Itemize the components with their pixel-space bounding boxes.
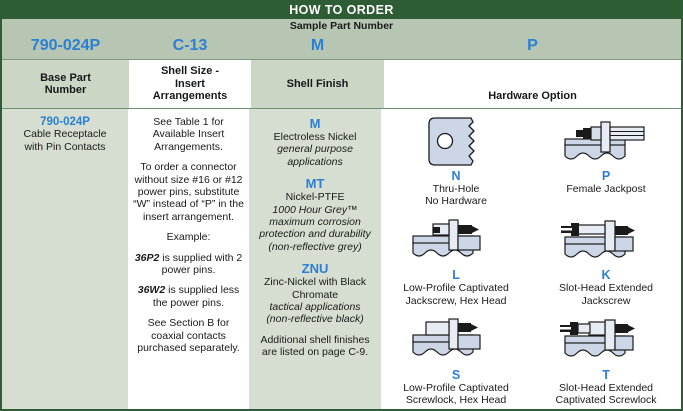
hardware-label-line: Thru-Hole [433,183,480,195]
finish-note: 1000 Hour Grey™ [253,204,377,216]
column-header-shell-size-insert-arrangements: Shell Size - Insert Arrangements [129,60,251,108]
hardware-option-l: L Low-Profile Captivated Jackscrew, Hex … [381,210,531,309]
shell-size-paragraph-1: See Table 1 for Available Insert Arrange… [133,116,244,153]
cell-shell-finish: M Electroless Nickel general purpose app… [249,109,381,409]
finish-code-znu: ZNU [253,261,377,276]
shell-size-example-2: 36W2 is supplied less the power pins. [133,284,244,309]
finish-note: tactical applications [253,301,377,313]
header-line: Number [40,84,91,97]
base-part-desc-line: Cable Receptacle [6,128,124,140]
finish-name-m: Electroless Nickel [253,131,377,143]
header-line: Shell Finish [287,78,349,91]
sample-part-number-codes: 790-024P C-13 M P [2,34,681,58]
hardware-label-line: No Hardware [425,195,487,207]
hardware-code-p: P [602,170,610,183]
finish-code-mt: MT [253,176,377,191]
hardware-option-s: S Low-Profile Captivated Screwlock, Hex … [381,310,531,409]
sample-code-base-part: 790-024P [2,34,129,58]
cell-base-part-number: 790-024P Cable Receptacle with Pin Conta… [2,109,128,409]
how-to-order-table: HOW TO ORDER Sample Part Number 790-024P… [0,0,683,411]
header-line: Insert [153,78,228,91]
finish-name-znu: Zinc-Nickel with Black Chromate [253,276,377,301]
cell-shell-size-insert-arrangements: See Table 1 for Available Insert Arrange… [128,109,249,409]
finish-name-mt: Nickel-PTFE [253,191,377,203]
shell-size-paragraph-3: See Section B for coaxial contacts purch… [133,317,244,354]
hardware-label-line: Screwlock, Hex Head [406,394,506,406]
hardware-option-t: T Slot-Head Extended Captivated Screwloc… [531,310,681,409]
header-line: Hardware Option [488,90,577,103]
banner-title: HOW TO ORDER [2,0,681,19]
sample-code-shell-finish: M [251,34,384,58]
slot-head-screwlock-diagram [531,313,681,370]
sample-code-hardware: P [384,34,681,58]
hardware-label-line: Jackscrew [582,295,631,307]
table-body: 790-024P Cable Receptacle with Pin Conta… [2,109,681,409]
shell-size-example-label: Example: [133,231,244,243]
column-header-base-part-number: Base Part Number [2,60,129,108]
column-header-row: Base Part Number Shell Size - Insert Arr… [2,60,681,109]
slot-head-jackscrew-diagram [531,213,681,270]
column-header-shell-finish: Shell Finish [251,60,384,108]
finish-note: general purpose applications [253,143,377,168]
female-jackpost-diagram [531,114,681,171]
shell-size-example-1: 36P2 is supplied with 2 power pins. [133,252,244,277]
hardware-label-line: Jackscrew, Hex Head [406,295,507,307]
hardware-option-n: N Thru-Hole No Hardware [381,111,531,210]
example-text: is supplied less the power pins. [153,284,239,308]
hardware-code-k: K [602,269,611,282]
hardware-option-grid: N Thru-Hole No Hardware [381,111,681,409]
shell-size-paragraph-2: To order a connector without size #16 or… [133,161,244,223]
low-profile-screwlock-diagram [381,313,531,370]
finish-note: maximum corrosion protection and durabil… [253,216,377,241]
hardware-label-line: Low-Profile Captivated [403,282,509,294]
header-line: Arrangements [153,90,228,103]
hardware-code-n: N [452,170,461,183]
sample-code-shell-size: C-13 [129,34,251,58]
thru-hole-diagram [381,114,531,171]
example-text: is supplied with 2 power pins. [159,252,242,276]
base-part-code: 790-024P [6,116,124,128]
finish-note: (non-reflective grey) [253,241,377,253]
cell-hardware-option: N Thru-Hole No Hardware [381,109,681,409]
sample-part-number-label: Sample Part Number [2,20,681,32]
example-code: 36P2 [135,252,160,264]
sample-part-number-band: Sample Part Number 790-024P C-13 M P [2,19,681,60]
base-part-desc-line: with Pin Contacts [6,141,124,153]
hardware-code-s: S [452,369,460,382]
hardware-label-line: Slot-Head Extended [559,282,653,294]
hardware-option-p: P Female Jackpost [531,111,681,210]
example-code: 36W2 [138,284,165,296]
header-line: Base Part [40,72,91,85]
hardware-option-k: K Slot-Head Extended Jackscrew [531,210,681,309]
hardware-label-line: Female Jackpost [566,183,645,195]
header-line: Shell Size - [153,65,228,78]
hardware-label-line: Slot-Head Extended [559,382,653,394]
low-profile-jackscrew-diagram [381,213,531,270]
shell-finish-footer: Additional shell finishes are listed on … [253,334,377,359]
hardware-code-l: L [452,269,460,282]
hardware-label-line: Captivated Screwlock [556,394,657,406]
hardware-label-line: Low-Profile Captivated [403,382,509,394]
hardware-code-t: T [602,369,610,382]
finish-code-m: M [253,116,377,131]
finish-note: (non-reflective black) [253,313,377,325]
column-header-hardware-option: Hardware Option [384,60,681,108]
